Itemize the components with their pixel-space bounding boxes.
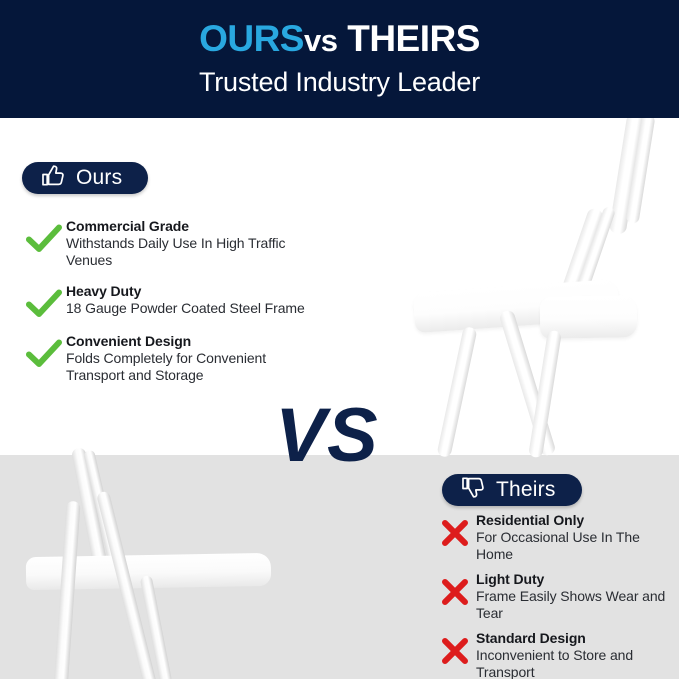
- list-item-title: Residential Only: [476, 512, 679, 529]
- list-item: Residential Only For Occasional Use In T…: [434, 512, 679, 563]
- list-item: Standard Design Inconvenient to Store an…: [434, 630, 679, 679]
- list-item-desc: Withstands Daily Use In High Traffic Ven…: [66, 235, 322, 269]
- page-title: OURSvs THEIRS: [0, 0, 679, 63]
- list-item-desc: Frame Easily Shows Wear and Tear: [476, 588, 679, 622]
- list-item-text: Residential Only For Occasional Use In T…: [476, 512, 679, 563]
- cross-icon: [434, 512, 476, 547]
- list-item: Light Duty Frame Easily Shows Wear and T…: [434, 571, 679, 622]
- check-icon: [22, 218, 66, 254]
- comparison-infographic: OURSvs THEIRS Trusted Industry Leader VS…: [0, 0, 679, 679]
- thumbs-up-icon: [40, 164, 65, 192]
- list-item-desc: Folds Completely for Convenient Transpor…: [66, 350, 322, 384]
- list-item-title: Commercial Grade: [66, 218, 322, 235]
- thumbs-down-icon: [460, 476, 485, 504]
- list-item: Heavy Duty 18 Gauge Powder Coated Steel …: [22, 283, 322, 319]
- list-item-title: Light Duty: [476, 571, 679, 588]
- list-item-desc: 18 Gauge Powder Coated Steel Frame: [66, 300, 322, 317]
- list-item-title: Heavy Duty: [66, 283, 322, 300]
- list-item-text: Convenient Design Folds Completely for C…: [66, 333, 322, 384]
- theirs-badge-label: Theirs: [496, 479, 556, 501]
- list-item-title: Standard Design: [476, 630, 679, 647]
- list-item-text: Heavy Duty 18 Gauge Powder Coated Steel …: [66, 283, 322, 317]
- list-item-text: Standard Design Inconvenient to Store an…: [476, 630, 679, 679]
- list-item-desc: For Occasional Use In The Home: [476, 529, 679, 563]
- cross-icon: [434, 630, 476, 665]
- title-ours: OURS: [199, 18, 304, 59]
- title-theirs: THEIRS: [347, 18, 480, 59]
- title-vs: vs: [304, 23, 337, 58]
- check-icon: [22, 283, 66, 319]
- list-item-title: Convenient Design: [66, 333, 322, 350]
- list-item: Convenient Design Folds Completely for C…: [22, 333, 322, 384]
- list-item-desc: Inconvenient to Store and Transport: [476, 647, 679, 679]
- list-item-text: Commercial Grade Withstands Daily Use In…: [66, 218, 322, 269]
- ours-badge-label: Ours: [76, 167, 122, 189]
- vs-divider-label: VS: [262, 398, 392, 474]
- ours-feature-list: Commercial Grade Withstands Daily Use In…: [22, 218, 322, 398]
- page-subtitle: Trusted Industry Leader: [0, 63, 679, 98]
- ours-badge: Ours: [22, 162, 148, 194]
- list-item: Commercial Grade Withstands Daily Use In…: [22, 218, 322, 269]
- cross-icon: [434, 571, 476, 606]
- list-item-text: Light Duty Frame Easily Shows Wear and T…: [476, 571, 679, 622]
- header-banner: OURSvs THEIRS Trusted Industry Leader: [0, 0, 679, 118]
- check-icon: [22, 333, 66, 369]
- theirs-badge: Theirs: [442, 474, 582, 506]
- theirs-feature-list: Residential Only For Occasional Use In T…: [434, 512, 679, 679]
